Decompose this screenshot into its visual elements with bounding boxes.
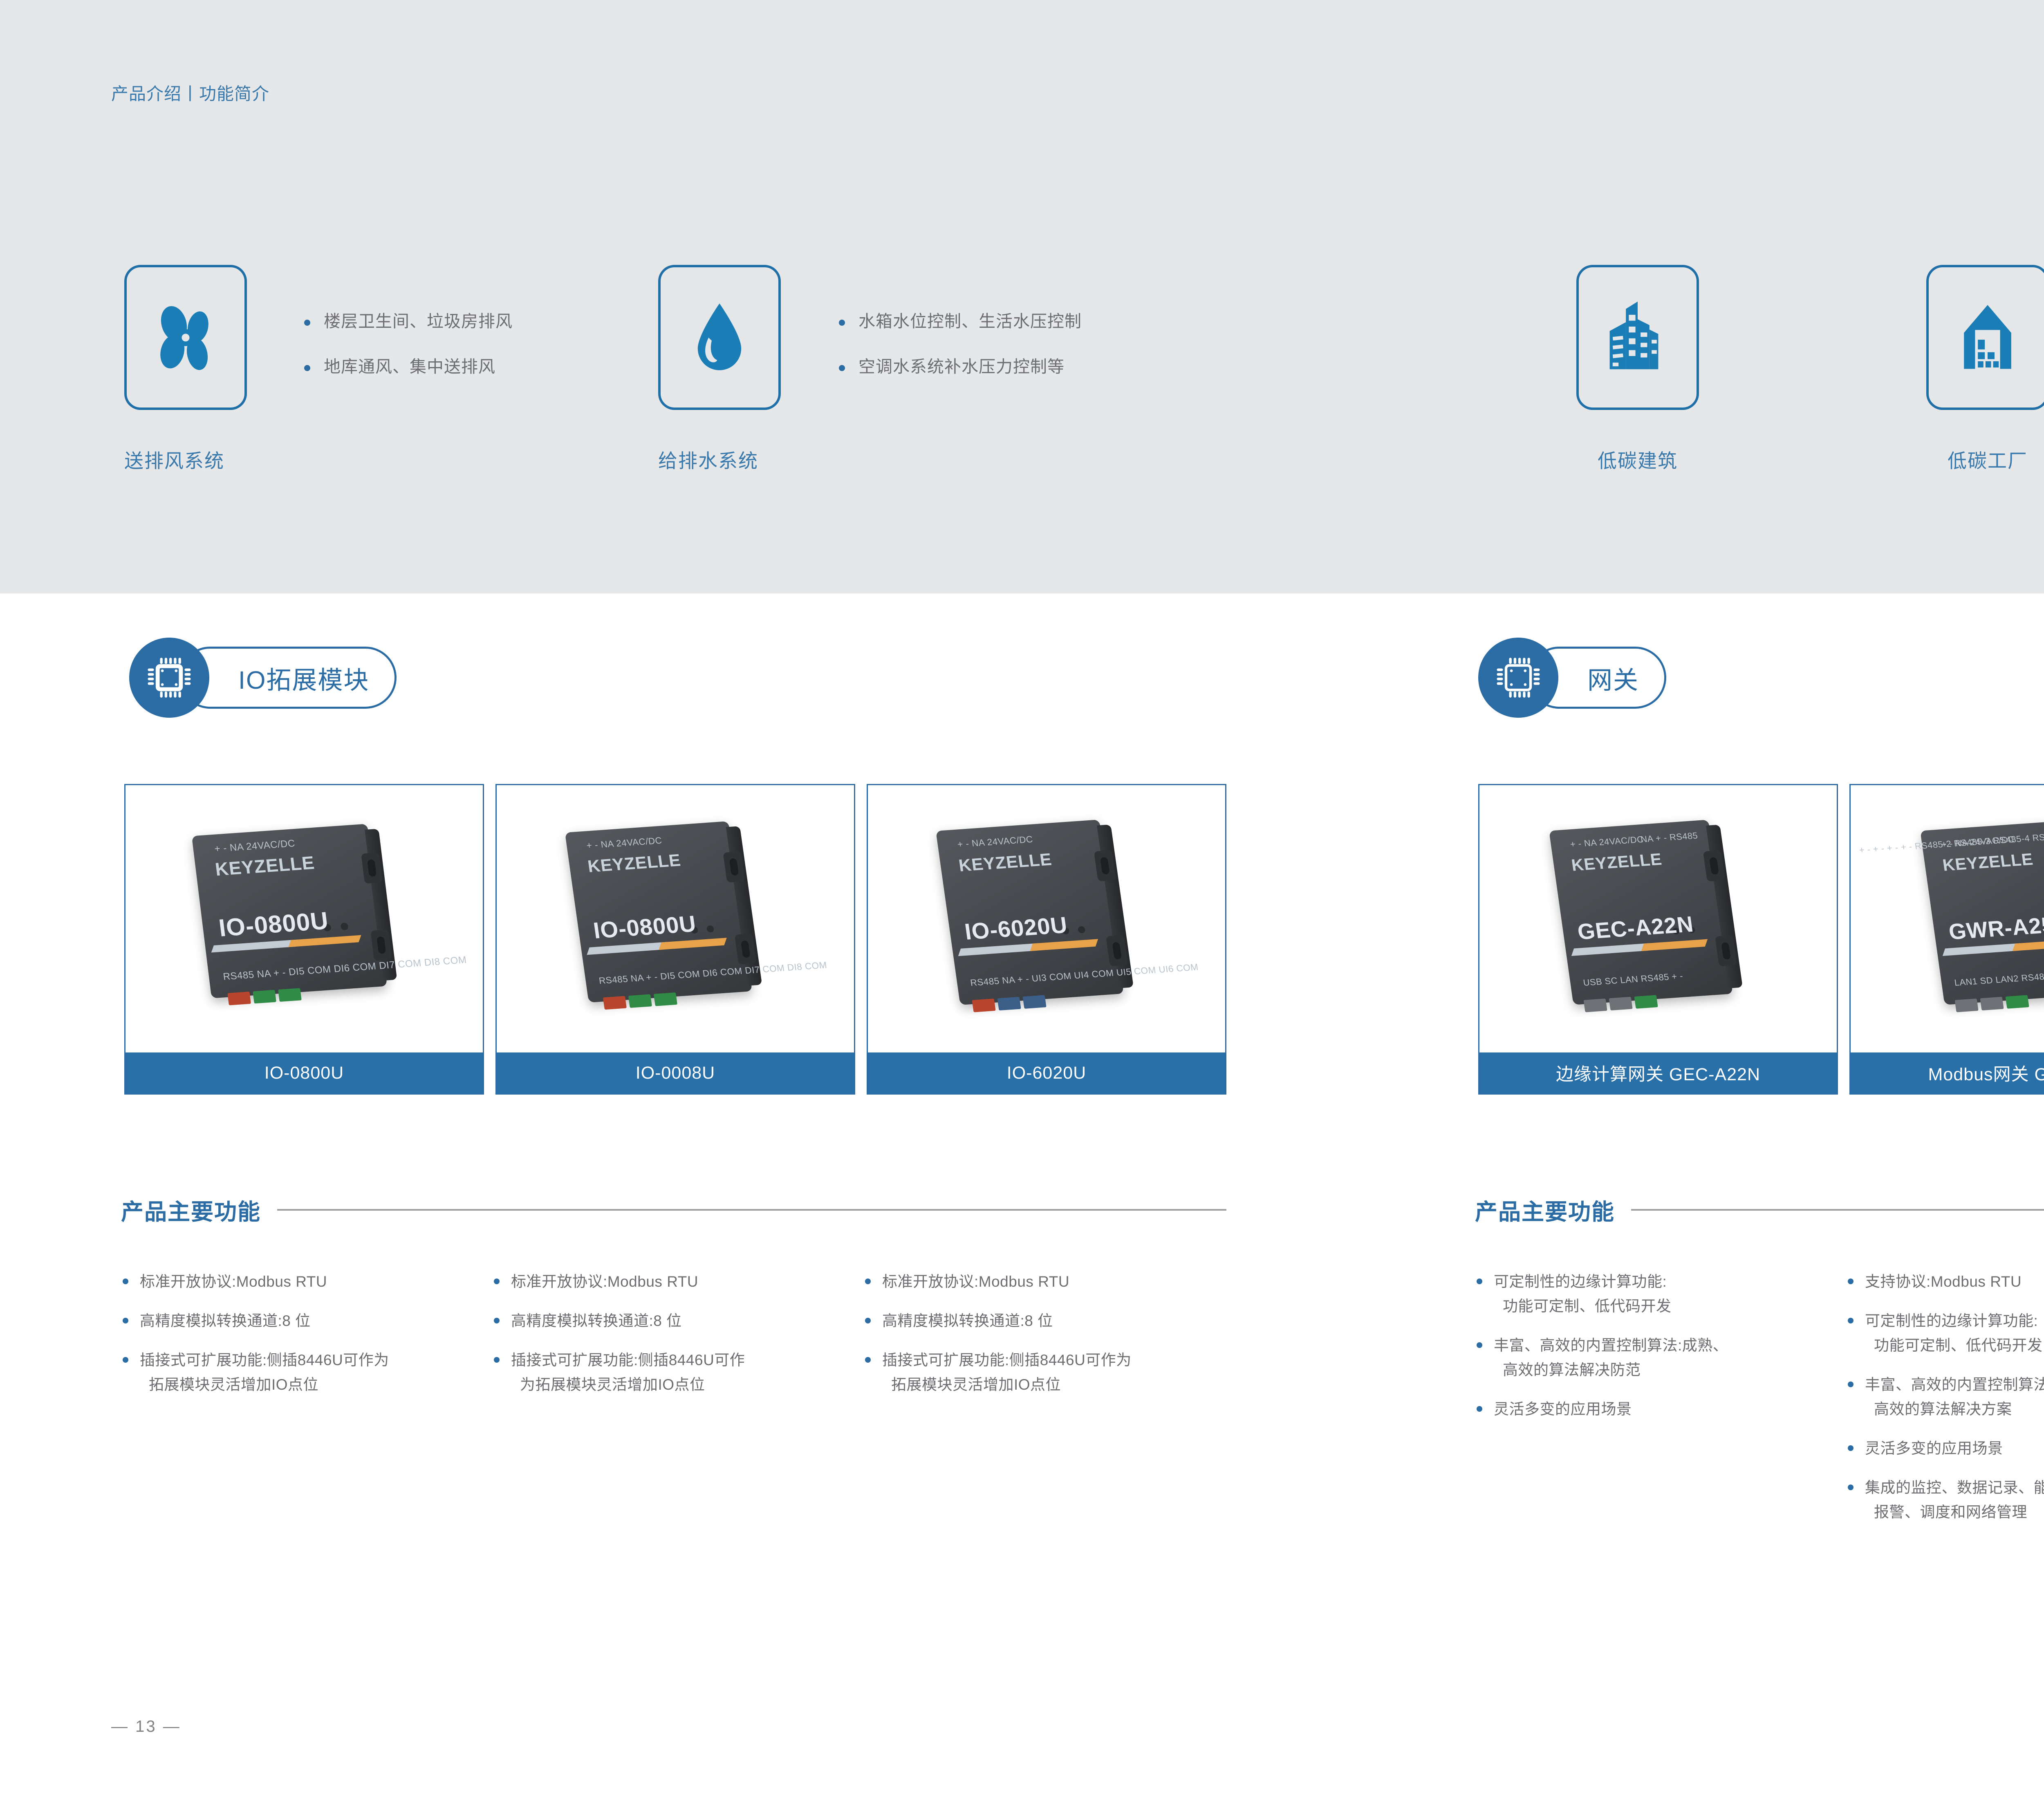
factory-icon (1953, 297, 2022, 378)
scenario-caption-water: 给排水系统 (658, 445, 781, 473)
list-item: 高精度模拟转换通道:8 位 (863, 1309, 1203, 1333)
scenario-bullets-water: 水箱水位控制、生活水压控制 空调水系统补水压力控制等 (837, 313, 1082, 404)
feature-heading-text: 产品主要功能 (1475, 1193, 1615, 1226)
product-photo: + - NA 24VAC/DC KEYZELLE IO-0800U RS485 … (126, 785, 483, 1052)
office-building-icon (1601, 297, 1674, 378)
water-drop-icon (685, 299, 754, 376)
scenario-caption-low-carbon-building: 低碳建筑 (1576, 445, 1699, 473)
device-illustration: + - NA 24VAC/DC KEYZELLE IO-0800U RS485 … (565, 821, 752, 1003)
scenario-caption-low-carbon-factory: 低碳工厂 (1926, 445, 2044, 473)
product-photo: + - NA 24VAC/DC KEYZELLE IO-6020U RS485 … (868, 785, 1225, 1052)
list-item: 丰富、高效的内置控制算法:成熟、高效的算法解决防范 (1475, 1333, 1814, 1382)
water-drop-icon-box (658, 265, 781, 410)
list-item: 高精度模拟转换通道:8 位 (492, 1309, 831, 1333)
list-item: 空调水系统补水压力控制等 (837, 358, 1082, 375)
section-header-label: IO拓展模块 (181, 660, 394, 696)
scenario-caption-ventilation: 送排风系统 (124, 445, 247, 473)
factory-icon-box (1926, 265, 2044, 410)
product-label: 边缘计算网关 GEC-A22N (1479, 1052, 1837, 1093)
list-item: 插接式可扩展功能:侧插8446U可作为拓展模块灵活增加IO点位 (492, 1348, 831, 1397)
product-card[interactable]: + - NA 24VAC/DC KEYZELLE IO-0800U RS485 … (124, 784, 484, 1095)
product-photo: + - NA 24VAC/DC NA + - RS485 KEYZELLE GE… (1479, 785, 1837, 1052)
product-label: IO-6020U (868, 1052, 1225, 1093)
feature-column-io-2: 标准开放协议:Modbus RTU 高精度模拟转换通道:8 位 插接式可扩展功能… (492, 1270, 831, 1412)
list-item: 楼层卫生间、垃圾房排风 (303, 313, 513, 330)
chip-icon (145, 653, 194, 702)
feature-heading-io: 产品主要功能 (121, 1193, 1226, 1226)
scenario-block-low-carbon-building: 低碳建筑 (1576, 265, 1699, 473)
product-label: IO-0800U (126, 1052, 483, 1093)
feature-heading-text: 产品主要功能 (121, 1193, 261, 1226)
product-card[interactable]: + - NA 24VAC/DC KEYZELLE IO-0800U RS485 … (495, 784, 855, 1095)
top-grey-band (0, 0, 2044, 593)
list-item: 高精度模拟转换通道:8 位 (121, 1309, 460, 1333)
scenario-block-ventilation: 送排风系统 (124, 265, 247, 473)
list-item: 支持协议:Modbus RTU (1846, 1270, 2044, 1294)
device-illustration: + - NA 24VAC/DC NA + - RS485 KEYZELLE GE… (1549, 820, 1733, 1005)
list-item: 插接式可扩展功能:侧插8446U可作为拓展模块灵活增加IO点位 (121, 1348, 460, 1397)
office-building-icon-box (1576, 265, 1699, 410)
section-header-tube: IO拓展模块 (179, 647, 397, 709)
list-item: 灵活多变的应用场景 (1846, 1436, 2044, 1461)
product-card[interactable]: + - NA 24VAC/DC KEYZELLE IO-6020U RS485 … (867, 784, 1226, 1095)
heading-rule (277, 1209, 1226, 1211)
device-illustration: + - NA 24VAC/DC KEYZELLE IO-6020U RS485 … (936, 820, 1124, 1005)
list-item: 标准开放协议:Modbus RTU (121, 1270, 460, 1294)
chip-icon-badge (129, 638, 209, 718)
list-item: 可定制性的边缘计算功能:功能可定制、低代码开发 (1846, 1309, 2044, 1358)
list-item: 地库通风、集中送排风 (303, 358, 513, 375)
list-item: 集成的监控、数据记录、能耗计量、报警、调度和网络管理 (1846, 1476, 2044, 1525)
feature-heading-gateway: 产品主要功能 (1475, 1193, 2044, 1226)
page-number-left: — 13 — (111, 1717, 181, 1736)
brochure-spread: 产品介绍丨功能简介 产品介绍丨功能简介 送排风系统 楼层卫生间、垃圾房排风 地库… (0, 0, 2044, 1798)
feature-column-io-3: 标准开放协议:Modbus RTU 高精度模拟转换通道:8 位 插接式可扩展功能… (863, 1270, 1203, 1412)
feature-column-io-1: 标准开放协议:Modbus RTU 高精度模拟转换通道:8 位 插接式可扩展功能… (121, 1270, 460, 1412)
chip-icon (1494, 653, 1543, 702)
list-item: 插接式可扩展功能:侧插8446U可作为拓展模块灵活增加IO点位 (863, 1348, 1203, 1397)
product-photo: + - NA 24VAC/DC + - + - + - + - RS485-2 … (1851, 785, 2044, 1052)
list-item: 标准开放协议:Modbus RTU (492, 1270, 831, 1294)
scenario-block-low-carbon-factory: 低碳工厂 (1926, 265, 2044, 473)
fan-icon (147, 299, 224, 376)
scenario-block-water: 给排水系统 (658, 265, 781, 473)
list-item: 灵活多变的应用场景 (1475, 1397, 1814, 1422)
product-card[interactable]: + - NA 24VAC/DC + - + - + - + - RS485-2 … (1849, 784, 2044, 1095)
running-head-left: 产品介绍丨功能简介 (111, 80, 269, 105)
device-illustration: + - NA 24VAC/DC KEYZELLE IO-0800U RS485 … (192, 824, 387, 998)
device-illustration: + - NA 24VAC/DC + - + - + - + - RS485-2 … (1920, 820, 2044, 1005)
list-item: 水箱水位控制、生活水压控制 (837, 313, 1082, 330)
product-card[interactable]: + - NA 24VAC/DC NA + - RS485 KEYZELLE GE… (1478, 784, 1838, 1095)
product-photo: + - NA 24VAC/DC KEYZELLE IO-0800U RS485 … (497, 785, 854, 1052)
list-item: 可定制性的边缘计算功能:功能可定制、低代码开发 (1475, 1270, 1814, 1319)
product-label: IO-0008U (497, 1052, 854, 1093)
feature-column-gateway-1: 可定制性的边缘计算功能:功能可定制、低代码开发 丰富、高效的内置控制算法:成熟、… (1475, 1270, 1814, 1436)
feature-column-gateway-2: 支持协议:Modbus RTU 可定制性的边缘计算功能:功能可定制、低代码开发 … (1846, 1270, 2044, 1539)
product-label: Modbus网关 GWR-A25N (1851, 1052, 2044, 1093)
scenario-bullets-ventilation: 楼层卫生间、垃圾房排风 地库通风、集中送排风 (303, 313, 513, 404)
list-item: 丰富、高效的内置控制算法:成熟、高效的算法解决方案 (1846, 1373, 2044, 1422)
heading-rule (1631, 1209, 2044, 1211)
list-item: 标准开放协议:Modbus RTU (863, 1270, 1203, 1294)
chip-icon-badge (1478, 638, 1558, 718)
fan-icon-box (124, 265, 247, 410)
